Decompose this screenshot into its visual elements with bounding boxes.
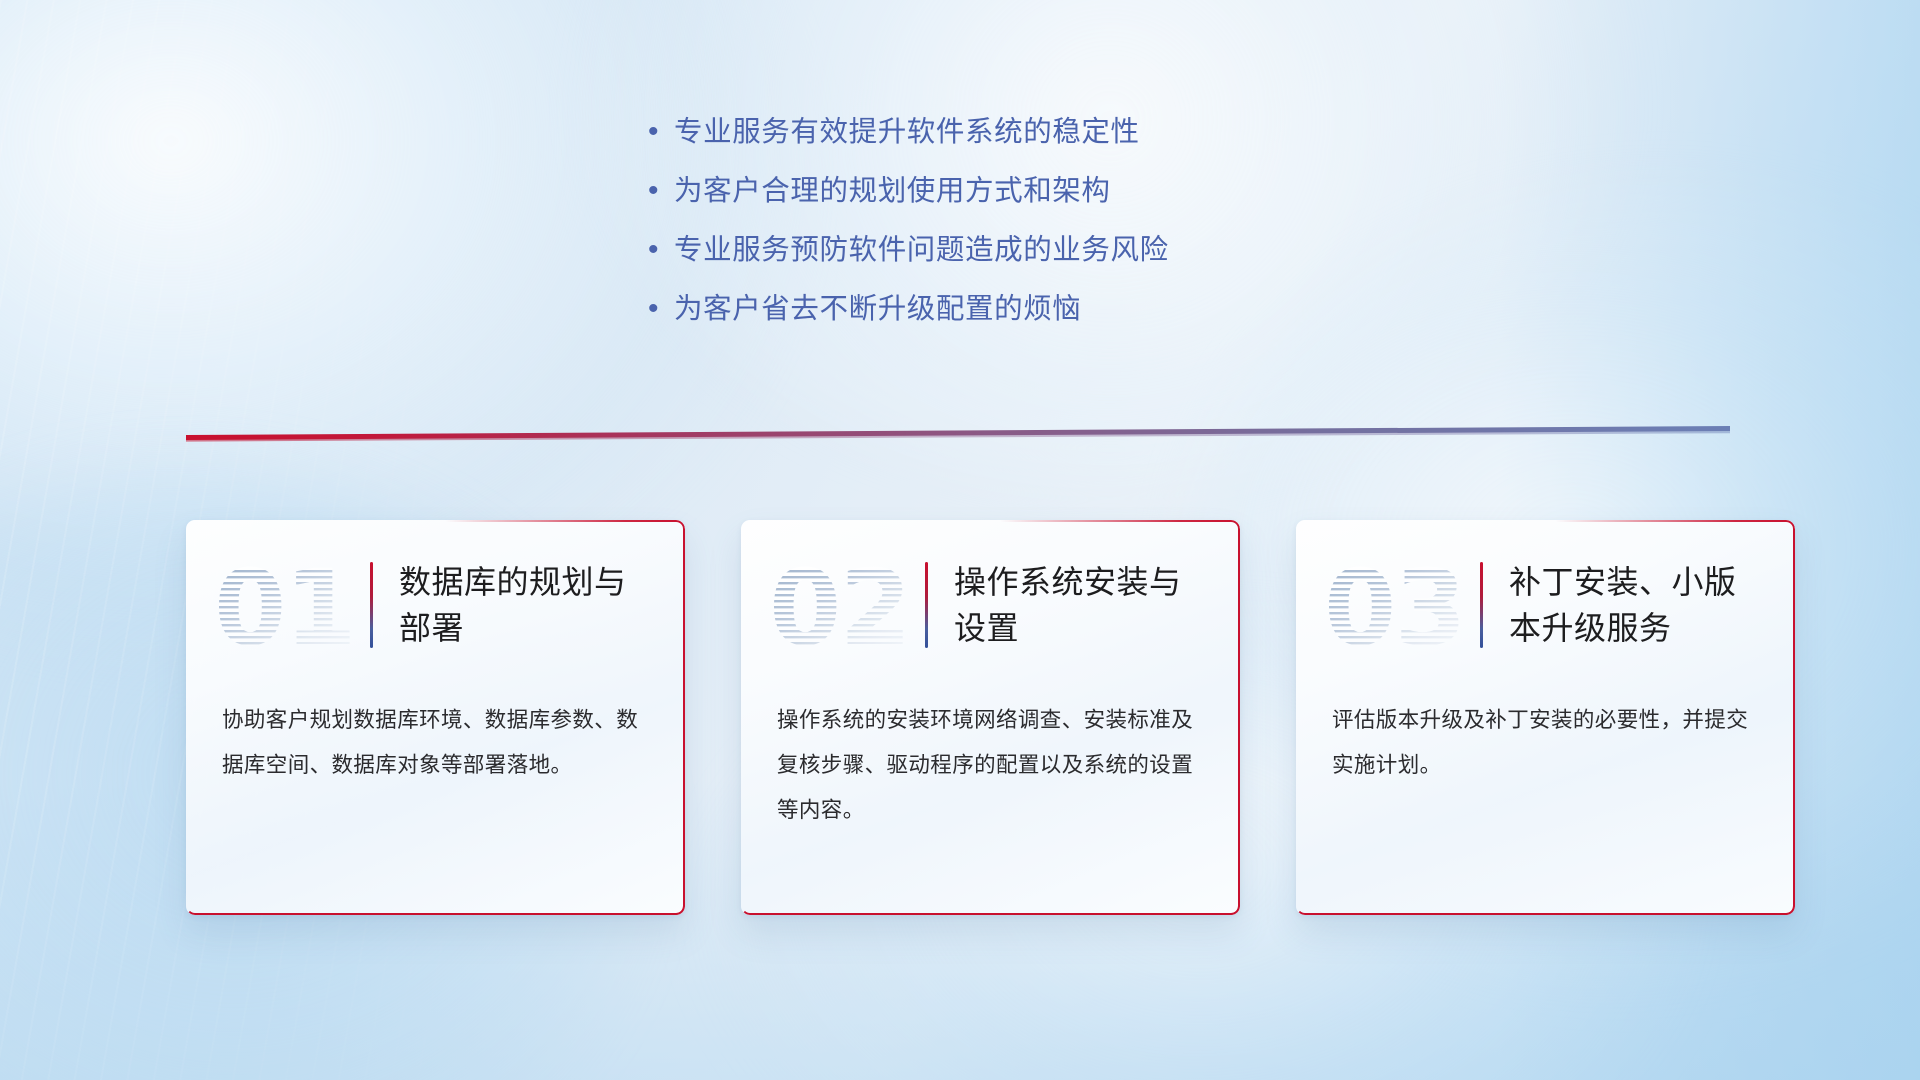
card-title-accent-bar xyxy=(370,562,373,648)
card-title-accent-bar xyxy=(1480,562,1483,648)
bullet-text: 为客户合理的规划使用方式和架构 xyxy=(674,171,1111,211)
bullet-text: 专业服务预防软件问题造成的业务风险 xyxy=(674,230,1169,270)
list-item: • 为客户省去不断升级配置的烦恼 xyxy=(648,289,1468,329)
service-card-02[interactable]: 02 操作系统安装与设置 操作系统的安装环境网络调查、安装标准及复核步骤、驱动程… xyxy=(741,520,1240,915)
card-number-text: 02 xyxy=(769,547,910,668)
list-item: • 专业服务预防软件问题造成的业务风险 xyxy=(648,230,1468,270)
list-item: • 专业服务有效提升软件系统的稳定性 xyxy=(648,112,1468,152)
card-title: 数据库的规划与部署 xyxy=(399,559,651,651)
bullet-list: • 专业服务有效提升软件系统的稳定性 • 为客户合理的规划使用方式和架构 • 专… xyxy=(648,112,1468,348)
service-card-01[interactable]: 01 数据库的规划与部署 协助客户规划数据库环境、数据库参数、数据库空间、数据库… xyxy=(186,520,685,915)
bullet-text: 为客户省去不断升级配置的烦恼 xyxy=(674,289,1081,329)
service-card-03[interactable]: 03 补丁安装、小版本升级服务 评估版本升级及补丁安装的必要性，并提交实施计划。 xyxy=(1296,520,1795,915)
bullet-dot-icon: • xyxy=(648,112,674,152)
bullet-dot-icon: • xyxy=(648,171,674,211)
section-divider xyxy=(186,426,1730,442)
card-number-watermark: 03 xyxy=(1324,546,1474,668)
card-description: 操作系统的安装环境网络调查、安装标准及复核步骤、驱动程序的配置以及系统的设置等内… xyxy=(741,690,1240,833)
card-number-watermark: 02 xyxy=(769,546,919,668)
card-header: 01 数据库的规划与部署 xyxy=(186,520,685,690)
card-description: 协助客户规划数据库环境、数据库参数、数据库空间、数据库对象等部署落地。 xyxy=(186,690,685,788)
card-number-watermark: 01 xyxy=(214,546,364,668)
card-header: 02 操作系统安装与设置 xyxy=(741,520,1240,690)
card-number-text: 01 xyxy=(214,547,355,668)
slide-root: • 专业服务有效提升软件系统的稳定性 • 为客户合理的规划使用方式和架构 • 专… xyxy=(0,0,1920,1080)
card-row: 01 数据库的规划与部署 协助客户规划数据库环境、数据库参数、数据库空间、数据库… xyxy=(186,520,1796,915)
card-title-accent-bar xyxy=(925,562,928,648)
card-header: 03 补丁安装、小版本升级服务 xyxy=(1296,520,1795,690)
card-title: 操作系统安装与设置 xyxy=(954,559,1206,651)
bullet-dot-icon: • xyxy=(648,289,674,329)
card-description: 评估版本升级及补丁安装的必要性，并提交实施计划。 xyxy=(1296,690,1795,788)
list-item: • 为客户合理的规划使用方式和架构 xyxy=(648,171,1468,211)
card-number-text: 03 xyxy=(1324,547,1465,668)
bullet-dot-icon: • xyxy=(648,230,674,270)
card-title: 补丁安装、小版本升级服务 xyxy=(1509,559,1761,651)
bullet-text: 专业服务有效提升软件系统的稳定性 xyxy=(674,112,1140,152)
